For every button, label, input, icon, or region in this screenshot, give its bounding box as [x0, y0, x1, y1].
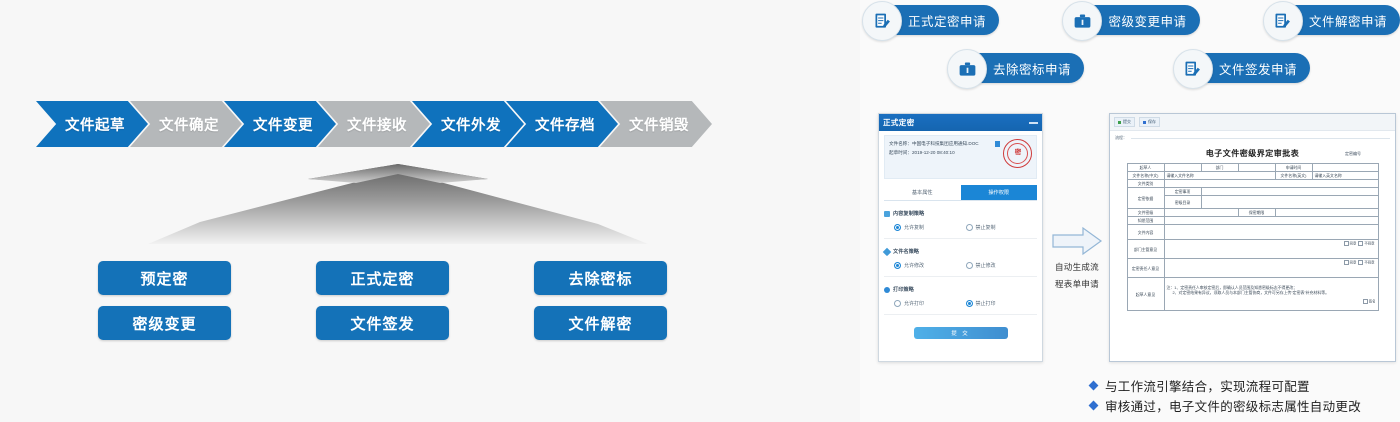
right-arrow-icon — [1051, 226, 1103, 256]
section-header: 打印策略 — [884, 286, 1037, 293]
table-row: 密级目录 — [1127, 196, 1378, 209]
signature-marks: 同意 不同意 — [1343, 241, 1375, 246]
file-icon — [995, 141, 1000, 147]
radio-icon[interactable] — [966, 300, 973, 307]
cell-hint-en[interactable]: 请输入英文名称 — [1312, 172, 1378, 180]
cell-label: 部门主管意见 — [1127, 240, 1164, 259]
pill-label: 去除密标申请 — [993, 59, 1071, 78]
section-print-policy: 打印策略 允许打印 禁止打印 — [884, 286, 1037, 315]
dialog-titlebar: 正式定密 — [879, 114, 1042, 131]
action-button-declassify[interactable]: 文件解密 — [534, 306, 667, 340]
tab-operation-permissions[interactable]: 操作权限 — [961, 185, 1038, 200]
flow-step-label: 文件确定 — [159, 114, 219, 135]
pen-icon — [883, 247, 891, 255]
cell-label: 文件类别 — [1127, 180, 1164, 188]
table-row: 文件内容 — [1127, 225, 1378, 240]
pin-icon — [1143, 121, 1146, 124]
cell-label: 起草人意见 — [1127, 278, 1164, 311]
cell-hint-cn[interactable]: 请输入文件名称 — [1164, 172, 1275, 180]
option-label: 禁止打印 — [976, 300, 996, 307]
minimize-icon[interactable] — [1029, 122, 1038, 124]
slide-canvas: 文件起草 文件确定 文件变更 文件接收 文件外发 文件存档 文件销毁 — [0, 0, 1400, 422]
cell-label: 部门 — [1201, 164, 1238, 172]
table-row: 文件密级 保密期限 — [1127, 209, 1378, 217]
form-save-label: 保存 — [1148, 119, 1156, 125]
pill-issue-application[interactable]: 文件签发申请 — [1181, 53, 1310, 83]
radio-icon[interactable] — [966, 224, 973, 231]
cell-label: 起草人 — [1127, 164, 1164, 172]
bullet-text: 审核通过，电子文件的密级标志属性自动更改 — [1105, 396, 1361, 415]
table-row: 起草人意见 注：1、定密责任人审核定密后，即确认人员范围及知悉密级标志不得更改；… — [1127, 278, 1378, 311]
pill-label: 密级变更申请 — [1108, 11, 1186, 30]
action-label: 预定密 — [140, 268, 188, 289]
cell-value[interactable] — [1275, 209, 1378, 217]
list-item: 审核通过，电子文件的密级标志属性自动更改 — [1090, 395, 1361, 415]
option-row: 允许打印 禁止打印 — [884, 300, 1037, 307]
table-row: 部门主管意见 同意 不同意 — [1127, 240, 1378, 259]
application-pill-row-1: 正式定密申请 密级变更申请 文件解密申请 — [870, 5, 1400, 35]
cell-label: 申请时间 — [1275, 164, 1312, 172]
radio-icon[interactable] — [894, 224, 901, 231]
section-copy-policy: 内容复制策略 允许复制 禁止复制 — [884, 210, 1037, 239]
checkbox-icon[interactable] — [1358, 260, 1363, 265]
pill-remove-mark-application[interactable]: 去除密标申请 — [955, 53, 1084, 83]
classification-dialog-window: 正式定密 文件名称：中国电子科技集团应用通知.DOC 起草时间：2019-12-… — [878, 113, 1043, 362]
cell-label: 文件名称(中文) — [1127, 172, 1164, 180]
action-button-formal-classify[interactable]: 正式定密 — [316, 261, 449, 295]
pill-label: 正式定密申请 — [908, 11, 986, 30]
cell-value[interactable] — [1164, 209, 1238, 217]
right-panel: 正式定密申请 密级变更申请 文件解密申请 去除密标申请 — [860, 0, 1400, 422]
tab-label: 操作权限 — [988, 190, 1009, 196]
radio-icon[interactable] — [894, 300, 901, 307]
approval-form-window: 提交 保存 流程： 电子文件密级界定审批表 定密编号 起草人 部门 申请时间 — [1109, 113, 1396, 362]
cell-value[interactable] — [1164, 164, 1201, 172]
option-label: 允许复制 — [904, 224, 924, 231]
cell-label: 保密期限 — [1238, 209, 1275, 217]
application-pill-row-2: 去除密标申请 文件签发申请 — [955, 53, 1310, 83]
flow-step-label: 文件接收 — [347, 114, 407, 135]
dialog-body: 文件名称：中国电子科技集团应用通知.DOC 起草时间：2019-12-20 08… — [879, 131, 1042, 344]
cell-value[interactable] — [1201, 188, 1378, 196]
fan-up-arrow-icon — [128, 162, 668, 250]
pill-label: 文件签发申请 — [1219, 59, 1297, 78]
checkbox-icon[interactable] — [1344, 241, 1349, 246]
form-number-label: 定密编号 — [1345, 151, 1361, 157]
form-submit-button[interactable]: 提交 — [1114, 117, 1135, 127]
table-row: 定密责任人意见 同意 不同意 — [1127, 259, 1378, 278]
diamond-bullet-icon — [1089, 400, 1099, 410]
note-line-2: 2、对定密结果有异议，须取人员与本部门主管协商，文件可另存上传“定密表”补充材料… — [1167, 290, 1376, 295]
option-label: 允许打印 — [904, 300, 924, 307]
checkbox-icon[interactable] — [1363, 299, 1368, 304]
seal-text: 密 — [1007, 143, 1028, 164]
table-row: 知悉范围 — [1127, 217, 1378, 225]
option-allow-print[interactable]: 允许打印 — [894, 300, 966, 307]
section-header: 内容复制策略 — [884, 210, 1037, 217]
cell-sublabel-matter: 定密事项 — [1164, 188, 1201, 196]
briefcase-icon — [947, 49, 987, 89]
flow-step-label: 文件销毁 — [629, 114, 689, 135]
option-row: 允许修改 禁止修改 — [884, 262, 1037, 269]
radio-icon[interactable] — [894, 262, 901, 269]
action-label: 文件解密 — [568, 313, 632, 334]
copy-icon — [884, 211, 890, 217]
option-deny-copy[interactable]: 禁止复制 — [966, 224, 1038, 231]
flow-step-label: 文件起草 — [65, 114, 125, 135]
section-title: 文件名策略 — [893, 248, 919, 255]
list-item: 与工作流引擎结合，实现流程可配置 — [1090, 375, 1361, 395]
checkbox-icon[interactable] — [1358, 241, 1363, 246]
transition-annotation: 自动生成流 程表单申请 — [1035, 226, 1119, 291]
cell-signature[interactable]: 同意 不同意 — [1164, 259, 1378, 278]
signature-marks: 同意 不同意 — [1343, 260, 1375, 265]
form-breadcrumb-label: 流程： — [1115, 135, 1127, 141]
tab-basic-attributes[interactable]: 基本属性 — [884, 185, 961, 200]
cell-label: 定密依据 — [1127, 188, 1164, 209]
diamond-bullet-icon — [1089, 380, 1099, 390]
cell-value[interactable] — [1201, 196, 1378, 209]
approval-table: 起草人 部门 申请时间 文件名称(中文) 请输入文件名称 文件名称(英文) 请输… — [1127, 163, 1379, 311]
form-breadcrumb: 流程： — [1110, 131, 1395, 141]
option-allow-rename[interactable]: 允许修改 — [894, 262, 966, 269]
submit-button[interactable]: 提 交 — [914, 327, 1008, 339]
print-icon — [884, 287, 890, 293]
pill-formal-classify-application[interactable]: 正式定密申请 — [870, 5, 999, 35]
divider — [1131, 138, 1390, 139]
flow-step-label: 文件外发 — [441, 114, 501, 135]
section-title: 打印策略 — [893, 286, 914, 293]
submit-label: 提 交 — [951, 329, 969, 337]
cell-value[interactable] — [1164, 180, 1378, 188]
feature-bullet-list: 与工作流引擎结合，实现流程可配置 审核通过，电子文件的密级标志属性自动更改 — [1090, 375, 1361, 415]
option-deny-rename[interactable]: 禁止修改 — [966, 262, 1038, 269]
action-button-level-change[interactable]: 密级变更 — [98, 306, 231, 340]
cell-sublabel-catalog: 密级目录 — [1164, 196, 1201, 209]
bullet-text: 与工作流引擎结合，实现流程可配置 — [1105, 376, 1310, 395]
form-toolbar: 提交 保存 — [1110, 114, 1395, 131]
note-signature-label: 签名 — [1167, 299, 1376, 304]
document-signature-icon — [862, 1, 902, 41]
cell-value[interactable] — [1164, 225, 1378, 240]
cell-label: 定密责任人意见 — [1127, 259, 1164, 278]
action-button-issue[interactable]: 文件签发 — [316, 306, 449, 340]
document-signature-icon — [1263, 1, 1303, 41]
radio-icon[interactable] — [966, 262, 973, 269]
pill-label: 文件解密申请 — [1309, 11, 1387, 30]
document-signature-icon — [1173, 49, 1213, 89]
document-meta-panel: 文件名称：中国电子科技集团应用通知.DOC 起草时间：2019-12-20 08… — [884, 135, 1037, 179]
flow-step-label: 文件变更 — [253, 114, 313, 135]
document-lifecycle-flow: 文件起草 文件确定 文件变更 文件接收 文件外发 文件存档 文件销毁 — [36, 101, 694, 147]
transition-label-line2: 程表单申请 — [1035, 278, 1119, 290]
action-label: 去除密标 — [568, 268, 632, 289]
transition-label-line1: 自动生成流 — [1035, 261, 1119, 273]
security-action-grid: 预定密 正式定密 去除密标 密级变更 文件签发 文件解密 — [98, 261, 688, 340]
form-save-button[interactable]: 保存 — [1139, 117, 1160, 127]
action-label: 密级变更 — [132, 313, 196, 334]
section-header: 文件名策略 — [884, 248, 1037, 255]
dialog-tabs: 基本属性 操作权限 — [884, 185, 1037, 201]
option-label: 禁止修改 — [976, 262, 996, 269]
table-row: 文件名称(中文) 请输入文件名称 文件名称(英文) 请输入英文名称 — [1127, 172, 1378, 180]
action-label: 文件签发 — [350, 313, 414, 334]
pill-declassify-application[interactable]: 文件解密申请 — [1271, 5, 1400, 35]
action-button-remove-mark[interactable]: 去除密标 — [534, 261, 667, 295]
section-title: 内容复制策略 — [893, 210, 924, 217]
cell-signature[interactable]: 同意 不同意 — [1164, 240, 1378, 259]
confidential-seal: 密 — [1003, 139, 1032, 168]
dialog-title: 正式定密 — [883, 117, 915, 128]
pill-level-change-application[interactable]: 密级变更申请 — [1070, 5, 1199, 35]
cell-label: 文件密级 — [1127, 209, 1164, 217]
option-label: 禁止复制 — [976, 224, 996, 231]
section-filename-policy: 文件名策略 允许修改 禁止修改 — [884, 248, 1037, 277]
action-label: 正式定密 — [350, 268, 414, 289]
option-allow-copy[interactable]: 允许复制 — [894, 224, 966, 231]
action-button-prereserve[interactable]: 预定密 — [98, 261, 231, 295]
option-label: 允许修改 — [904, 262, 924, 269]
table-row: 起草人 部门 申请时间 — [1127, 164, 1378, 172]
flow-step-1[interactable]: 文件起草 — [36, 101, 148, 147]
cell-label: 知悉范围 — [1127, 217, 1164, 225]
option-row: 允许复制 禁止复制 — [884, 224, 1037, 231]
cell-label: 文件内容 — [1127, 225, 1164, 240]
left-panel: 文件起草 文件确定 文件变更 文件接收 文件外发 文件存档 文件销毁 — [0, 0, 790, 422]
cell-value[interactable] — [1312, 164, 1378, 172]
check-icon — [1118, 121, 1121, 124]
table-row: 文件类别 — [1127, 180, 1378, 188]
cell-value[interactable] — [1164, 217, 1378, 225]
flow-step-label: 文件存档 — [535, 114, 595, 135]
briefcase-icon — [1062, 1, 1102, 41]
tab-label: 基本属性 — [912, 190, 933, 196]
cell-label: 文件名称(英文) — [1275, 172, 1312, 180]
checkbox-icon[interactable] — [1344, 260, 1349, 265]
table-row: 定密依据 定密事项 — [1127, 188, 1378, 196]
form-submit-label: 提交 — [1123, 119, 1131, 125]
cell-note: 注：1、定密责任人审核定密后，即确认人员范围及知悉密级标志不得更改； 2、对定密… — [1164, 278, 1378, 311]
cell-value[interactable] — [1238, 164, 1275, 172]
option-deny-print[interactable]: 禁止打印 — [966, 300, 1038, 307]
